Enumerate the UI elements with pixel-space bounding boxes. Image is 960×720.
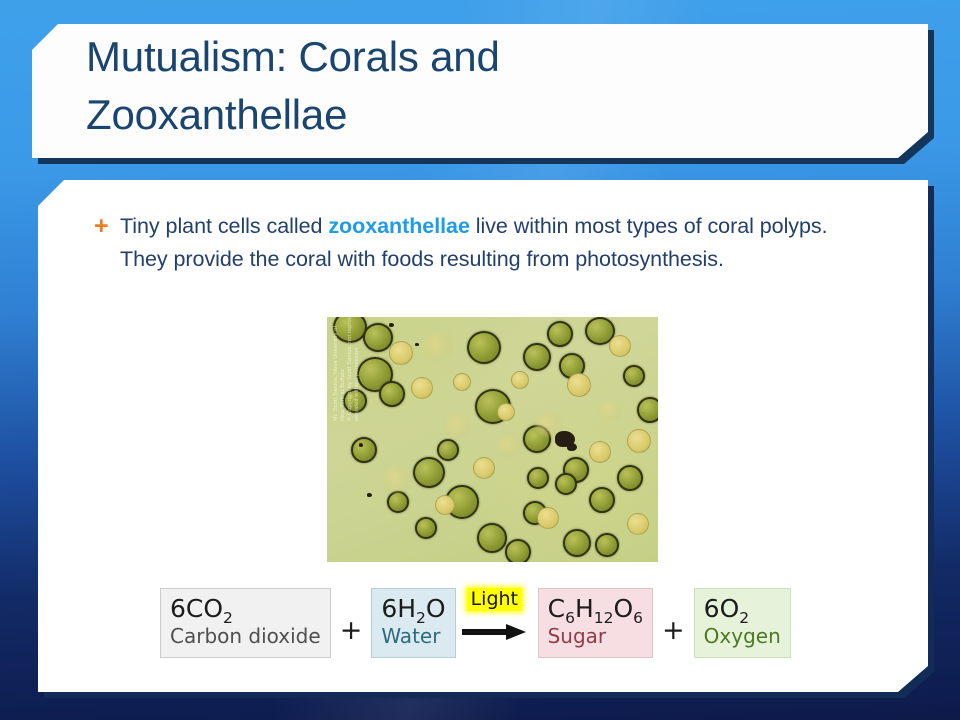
zooxanthellae-micrograph: Mr. Scott Santos, Nova University of New… <box>327 317 658 562</box>
plus-bullet-icon: + <box>94 210 120 242</box>
cell <box>567 373 591 397</box>
cell <box>343 389 367 413</box>
title-box: Mutualism: Corals and Zooxanthellae <box>32 24 928 158</box>
reaction-arrow-group: Light <box>458 588 536 662</box>
cell <box>415 517 437 539</box>
cell <box>379 381 405 407</box>
cell <box>617 465 643 491</box>
equation-box-oxygen: 6O2 Oxygen <box>694 588 791 658</box>
cell <box>563 529 591 557</box>
cell <box>627 513 649 535</box>
cell <box>383 467 411 493</box>
arrow-shaft <box>462 629 510 635</box>
page-title: Mutualism: Corals and Zooxanthellae <box>86 28 886 144</box>
debris-speck <box>367 493 372 497</box>
cell <box>505 539 531 562</box>
arrow-head <box>506 624 526 640</box>
cell <box>497 435 521 457</box>
bullet-text-before: Tiny plant cells called <box>120 214 328 238</box>
cell <box>527 467 549 489</box>
cell <box>595 533 619 557</box>
right-arrow-icon <box>462 624 528 640</box>
cell <box>477 523 507 553</box>
formula-h2o-pre: 6H <box>381 594 416 623</box>
cell <box>413 457 445 488</box>
equation-box-sugar: C6H12O6 Sugar <box>538 588 653 658</box>
equation-box-carbon-dioxide: 6CO2 Carbon dioxide <box>160 588 331 658</box>
label-water: Water <box>381 624 445 649</box>
cell <box>363 323 393 352</box>
cell <box>609 335 631 357</box>
cell <box>511 371 529 389</box>
debris-speck <box>359 443 363 447</box>
cell <box>351 437 377 463</box>
debris-speck <box>415 343 419 346</box>
label-oxygen: Oxygen <box>704 624 781 649</box>
formula-co2-main: 6CO <box>170 594 223 623</box>
debris-speck <box>567 443 577 451</box>
formula-h2o-post: O <box>426 594 446 623</box>
cell <box>497 403 515 421</box>
highlighted-term-zooxanthellae: zooxanthellae <box>328 214 470 238</box>
cell <box>589 487 615 513</box>
debris-speck <box>389 323 394 327</box>
formula-h2o: 6H2O <box>381 594 445 624</box>
cell <box>637 397 658 423</box>
cell <box>411 377 433 399</box>
bullet-paragraph: Tiny plant cells called zooxanthellae li… <box>120 210 874 275</box>
cell <box>555 473 577 495</box>
equation-plus-1: + <box>331 616 372 646</box>
light-catalyst-label: Light <box>467 588 522 611</box>
formula-glucose: C6H12O6 <box>548 594 643 624</box>
cell <box>599 401 621 421</box>
label-carbon-dioxide: Carbon dioxide <box>170 624 321 649</box>
slide: Mutualism: Corals and Zooxanthellae + Ti… <box>0 0 960 720</box>
cell <box>537 507 559 529</box>
cell <box>423 333 453 361</box>
cell <box>473 457 495 479</box>
cell <box>387 491 409 513</box>
cell <box>437 439 459 461</box>
cell <box>467 331 501 364</box>
equation-plus-2: + <box>653 616 694 646</box>
photosynthesis-equation: 6CO2 Carbon dioxide + 6H2O Water Light C… <box>160 588 830 666</box>
formula-o2: 6O2 <box>704 594 781 624</box>
formula-co2: 6CO2 <box>170 594 321 624</box>
cell <box>453 373 471 391</box>
cell <box>627 429 651 453</box>
cell <box>523 343 551 371</box>
formula-o2-main: 6O <box>704 594 740 623</box>
cell <box>445 413 471 439</box>
equation-box-water: 6H2O Water <box>371 588 455 658</box>
cell <box>589 441 611 463</box>
bullet-list-item: + Tiny plant cells called zooxanthellae … <box>94 210 874 275</box>
cell <box>389 341 413 365</box>
cell <box>435 495 455 515</box>
label-sugar: Sugar <box>548 624 643 649</box>
cell <box>547 321 573 347</box>
cell <box>623 365 645 387</box>
